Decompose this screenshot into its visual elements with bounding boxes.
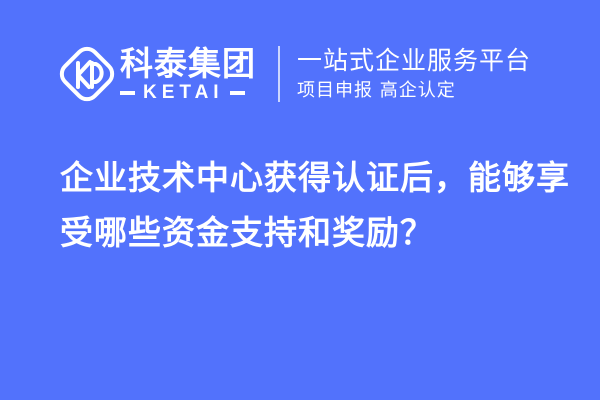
tagline-primary: 一站式企业服务平台 xyxy=(297,46,531,76)
promo-banner: 科泰集团 KETAI 一站式企业服务平台 项目申报 高企认定 企业技术中心获得认… xyxy=(0,0,600,400)
brand-name-en-row: KETAI xyxy=(120,83,256,103)
brand-name-en: KETAI xyxy=(135,83,230,103)
brand-rule-right-icon xyxy=(230,91,245,95)
banner-header: 科泰集团 KETAI 一站式企业服务平台 项目申报 高企认定 xyxy=(58,40,531,108)
page-title: 企业技术中心获得认证后，能够享受哪些资金支持和奖励？ xyxy=(60,150,575,260)
header-divider xyxy=(278,46,280,102)
brand-lockup: 科泰集团 KETAI xyxy=(58,43,256,105)
ketai-diamond-kd-monogram-icon xyxy=(58,43,116,105)
brand-rule-left-icon xyxy=(120,91,135,95)
tagline-secondary: 项目申报 高企认定 xyxy=(297,80,531,102)
brand-name-cn: 科泰集团 xyxy=(120,46,256,82)
tagline-group: 一站式企业服务平台 项目申报 高企认定 xyxy=(297,46,531,102)
brand-text: 科泰集团 KETAI xyxy=(120,46,256,103)
